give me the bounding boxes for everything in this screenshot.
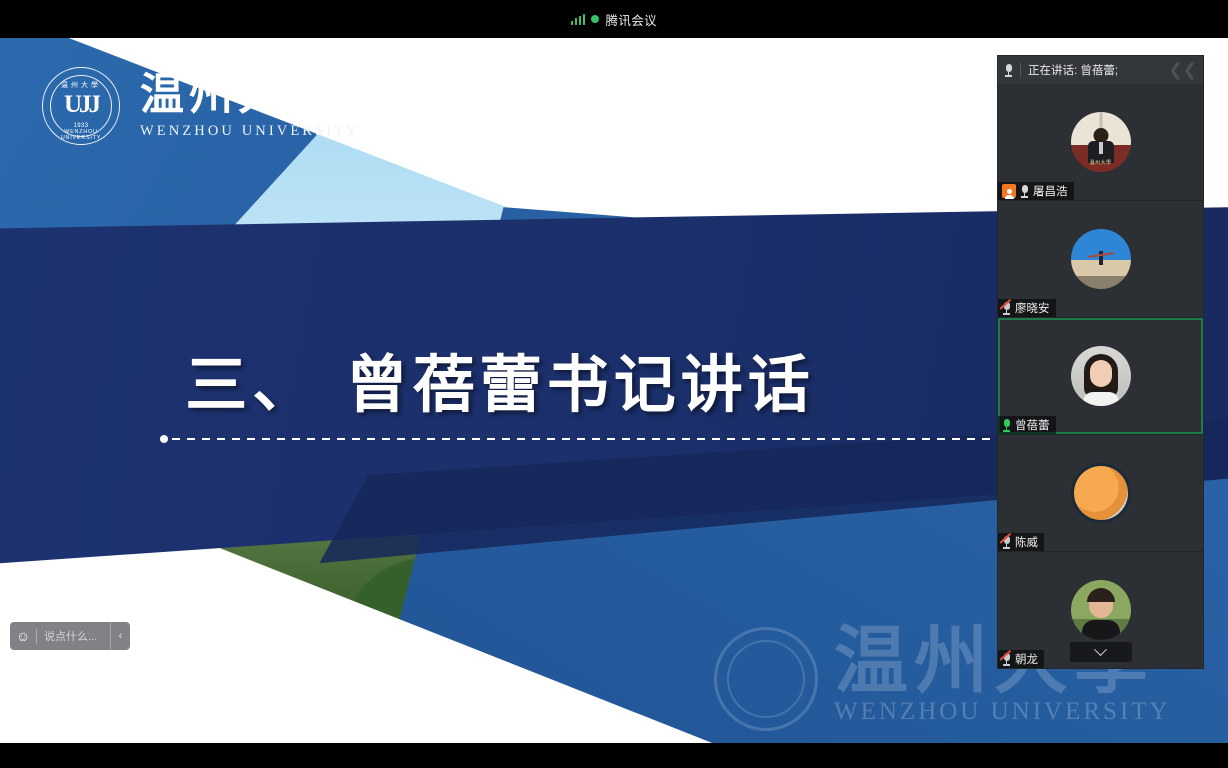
microphone-muted-icon xyxy=(1002,536,1011,549)
seal-monogram-label: UJJ xyxy=(64,91,98,119)
panel-header: 正在讲话: 曾蓓蕾; ❮❮ xyxy=(998,56,1203,84)
participant-tile[interactable]: 陈威 xyxy=(998,435,1203,552)
avatar xyxy=(1071,463,1131,523)
header-divider xyxy=(1020,63,1021,77)
participant-name-chip: 屠昌浩 xyxy=(998,182,1074,200)
seal-year-label: 1933 xyxy=(74,123,89,129)
logo-name-en: WENZHOU UNIVERSITY xyxy=(140,123,360,140)
participant-tile[interactable]: 温州大學 屠昌浩 xyxy=(998,84,1203,201)
participant-name: 陈威 xyxy=(1015,534,1038,550)
bottom-black-strip xyxy=(0,743,1228,768)
logo-wordmark: 温州大學 WENZHOU UNIVERSITY xyxy=(140,72,360,139)
chevron-left-icon[interactable]: ‹ xyxy=(110,622,130,650)
recording-status-dot-icon xyxy=(591,15,599,23)
participant-name-chip: 朝龙 xyxy=(998,650,1044,668)
participant-name: 廖晓安 xyxy=(1015,300,1050,316)
participant-name: 屠昌浩 xyxy=(1033,183,1068,199)
app-name-label: 腾讯会议 xyxy=(605,10,657,29)
participant-tile-active-speaker[interactable]: 曾蓓蕾 xyxy=(998,318,1203,435)
microphone-muted-icon xyxy=(1002,653,1011,666)
microphone-active-icon xyxy=(1002,419,1011,432)
logo-name-cn: 温州大學 xyxy=(140,72,360,118)
chat-input-placeholder[interactable]: 说点什么... xyxy=(37,628,110,644)
participants-panel[interactable]: 正在讲话: 曾蓓蕾; ❮❮ 温州大學 屠昌浩 廖晓安 曾蓓蕾 xyxy=(998,56,1203,668)
participant-tile[interactable]: 廖晓安 xyxy=(998,201,1203,318)
microphone-icon xyxy=(1020,185,1029,198)
seal-arc-top-label: 温州大學 xyxy=(43,80,119,90)
dash-start-dot-icon xyxy=(160,435,168,443)
microphone-muted-icon xyxy=(1002,302,1011,315)
participant-name-chip: 廖晓安 xyxy=(998,299,1056,317)
participant-name-chip: 陈威 xyxy=(998,533,1044,551)
system-top-bar: 腾讯会议 xyxy=(0,0,1228,38)
dashed-line xyxy=(172,438,990,440)
university-seal-icon: 温州大學 UJJ 1933 WENZHOU UNIVERSITY xyxy=(42,67,120,145)
host-badge-icon xyxy=(1002,184,1016,198)
double-chevron-icon[interactable]: ❮❮ xyxy=(1169,62,1198,79)
avatar: 温州大學 xyxy=(1071,112,1131,172)
avatar xyxy=(1071,229,1131,289)
chat-input-bar[interactable]: ☺ 说点什么... ‹ xyxy=(10,622,130,650)
avatar xyxy=(1071,346,1131,406)
speaking-status-label: 正在讲话: 曾蓓蕾; xyxy=(1028,62,1118,78)
avatar xyxy=(1071,580,1131,640)
microphone-icon xyxy=(1004,64,1013,77)
chevron-down-icon[interactable] xyxy=(1070,642,1132,662)
university-logo: 温州大學 UJJ 1933 WENZHOU UNIVERSITY 温州大學 WE… xyxy=(42,67,360,145)
signal-bars-icon xyxy=(571,14,586,25)
title-dashed-rule xyxy=(160,435,990,443)
participant-name: 朝龙 xyxy=(1015,651,1038,667)
seal-arc-bottom-label: WENZHOU UNIVERSITY xyxy=(43,129,119,141)
smiley-icon[interactable]: ☺ xyxy=(10,628,36,644)
participant-name-chip: 曾蓓蕾 xyxy=(998,416,1056,434)
slide-title: 三、 曾蓓蕾书记讲话 xyxy=(0,334,1000,424)
participant-name: 曾蓓蕾 xyxy=(1015,417,1050,433)
